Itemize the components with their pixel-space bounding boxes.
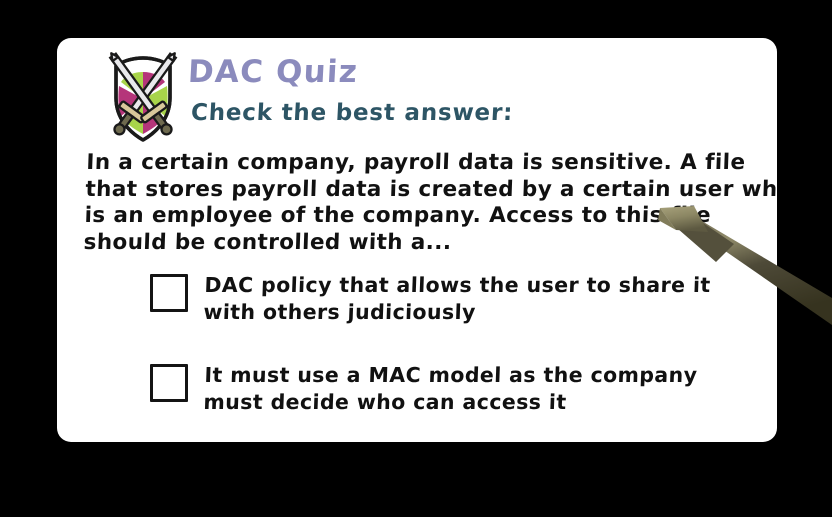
answer-option-1[interactable]: DAC policy that allows the user to share… [150,270,750,326]
instruction-subtitle: Check the best answer: [190,100,513,126]
answer-options-list: DAC policy that allows the user to share… [150,270,750,442]
answer-option-1-line-1: DAC policy that allows the user to share… [204,272,711,299]
question-line-1: In a certain company, payroll data is se… [86,150,747,177]
shield-crossed-swords-icon [95,42,191,148]
page-title: DAC Quiz [187,54,359,90]
checkbox-option-2[interactable] [150,364,188,402]
question-line-2: that stores payroll data is created by a… [85,177,746,204]
question-text: In a certain company, payroll data is se… [83,150,747,256]
answer-option-1-line-2: with others judiciously [203,299,710,326]
answer-option-1-label: DAC policy that allows the user to share… [203,270,711,326]
answer-option-2-line-1: It must use a MAC model as the company [204,362,698,389]
answer-option-2[interactable]: It must use a MAC model as the company m… [150,360,750,416]
question-line-4: should be controlled with a... [83,230,744,257]
answer-option-2-line-2: must decide who can access it [203,389,697,416]
screen-root: DAC Quiz Check the best answer: In a cer… [0,0,832,517]
answer-option-2-label: It must use a MAC model as the company m… [203,360,698,416]
checkbox-option-1[interactable] [150,274,188,312]
quiz-card: DAC Quiz Check the best answer: In a cer… [57,38,777,442]
question-line-3: is an employee of the company. Access to… [84,203,745,230]
